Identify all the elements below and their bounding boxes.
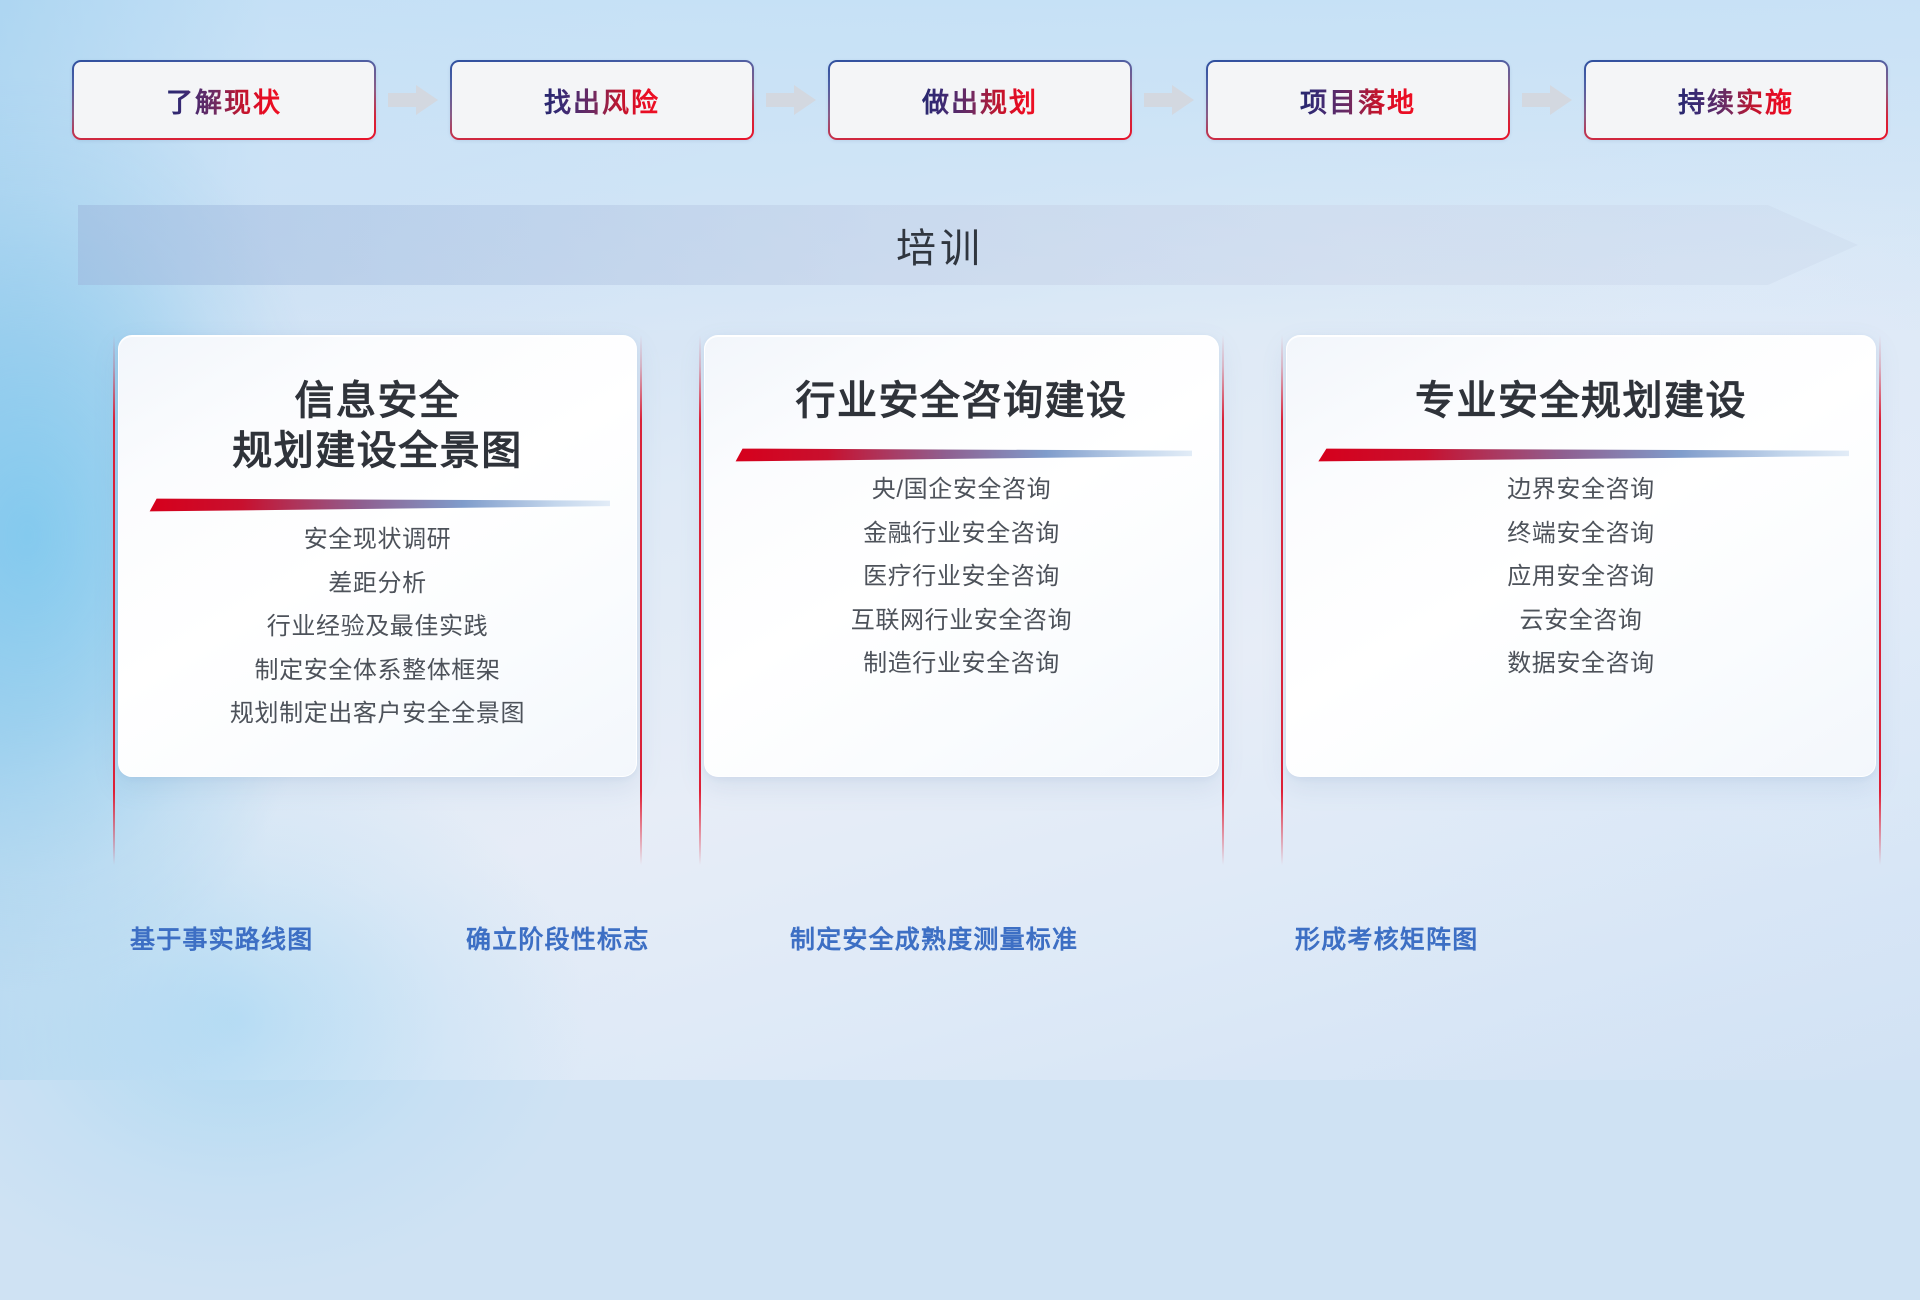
- step-box-4[interactable]: 项目落地: [1206, 60, 1510, 140]
- arrow-right-icon: [1520, 83, 1574, 117]
- card-accent-line-right-3: [1879, 335, 1881, 865]
- card-3[interactable]: 专业安全规划建设边界安全咨询终端安全咨询应用安全咨询云安全咨询数据安全咨询: [1286, 335, 1876, 777]
- card-title-1: 信息安全规划建设全景图: [232, 376, 523, 476]
- training-band-label: 培训: [896, 216, 984, 274]
- card-1[interactable]: 信息安全规划建设全景图安全现状调研差距分析行业经验及最佳实践制定安全体系整体框架…: [118, 335, 637, 777]
- card-list-3: 边界安全咨询终端安全咨询应用安全咨询云安全咨询数据安全咨询: [1313, 476, 1849, 678]
- list-item: 制造行业安全咨询: [863, 650, 1060, 678]
- step-box-5[interactable]: 持续实施: [1584, 60, 1888, 140]
- card-title-line: 专业安全规划建设: [1415, 376, 1747, 426]
- step-label-1: 了解现状: [166, 81, 282, 120]
- list-item: 云安全咨询: [1520, 607, 1643, 635]
- card-wrapper-3: 专业安全规划建设边界安全咨询终端安全咨询应用安全咨询云安全咨询数据安全咨询: [1281, 335, 1881, 865]
- step-box-1[interactable]: 了解现状: [72, 60, 376, 140]
- card-divider-1: [145, 494, 610, 516]
- card-wrapper-1: 信息安全规划建设全景图安全现状调研差距分析行业经验及最佳实践制定安全体系整体框架…: [113, 335, 642, 865]
- card-title-line: 行业安全咨询建设: [796, 376, 1128, 426]
- training-band-label-wrap: 培训: [0, 205, 1880, 285]
- step-arrow-3: [1142, 83, 1196, 117]
- gradient-divider-icon: [1313, 444, 1849, 466]
- step-arrow-4: [1520, 83, 1574, 117]
- list-item: 医疗行业安全咨询: [863, 563, 1060, 591]
- arrow-right-icon: [386, 83, 440, 117]
- card-divider-2: [731, 444, 1192, 466]
- card-2[interactable]: 行业安全咨询建设央/国企安全咨询金融行业安全咨询医疗行业安全咨询互联网行业安全咨…: [704, 335, 1219, 777]
- step-arrow-2: [764, 83, 818, 117]
- list-item: 行业经验及最佳实践: [267, 613, 488, 641]
- step-label-2: 找出风险: [544, 81, 660, 120]
- gradient-divider-icon: [731, 444, 1192, 466]
- list-item: 终端安全咨询: [1507, 520, 1655, 548]
- arrow-right-icon: [764, 83, 818, 117]
- list-item: 安全现状调研: [304, 526, 452, 554]
- card-list-1: 安全现状调研差距分析行业经验及最佳实践制定安全体系整体框架规划制定出客户安全全景…: [145, 526, 610, 728]
- list-item: 数据安全咨询: [1507, 650, 1655, 678]
- list-item: 应用安全咨询: [1507, 563, 1655, 591]
- card-title-3: 专业安全规划建设: [1415, 376, 1747, 426]
- caption-row: 基于事实路线图确立阶段性标志制定安全成熟度测量标准形成考核矩阵图: [0, 920, 1920, 980]
- list-item: 央/国企安全咨询: [872, 476, 1051, 504]
- list-item: 互联网行业安全咨询: [851, 607, 1072, 635]
- step-box-2[interactable]: 找出风险: [450, 60, 754, 140]
- card-wrapper-2: 行业安全咨询建设央/国企安全咨询金融行业安全咨询医疗行业安全咨询互联网行业安全咨…: [699, 335, 1224, 865]
- list-item: 差距分析: [328, 570, 426, 598]
- card-accent-line-left-3: [1281, 335, 1283, 865]
- card-title-line: 信息安全: [232, 376, 523, 426]
- card-accent-line-left-1: [113, 335, 115, 865]
- step-box-3[interactable]: 做出规划: [828, 60, 1132, 140]
- list-item: 制定安全体系整体框架: [255, 657, 501, 685]
- card-divider-3: [1313, 444, 1849, 466]
- list-item: 边界安全咨询: [1507, 476, 1655, 504]
- step-label-4: 项目落地: [1300, 81, 1416, 120]
- process-step-row: 了解现状找出风险做出规划项目落地持续实施: [0, 0, 1920, 200]
- list-item: 金融行业安全咨询: [863, 520, 1060, 548]
- card-row: 信息安全规划建设全景图安全现状调研差距分析行业经验及最佳实践制定安全体系整体框架…: [0, 335, 1920, 865]
- card-accent-line-right-1: [640, 335, 642, 865]
- list-item: 规划制定出客户安全全景图: [230, 700, 525, 728]
- card-title-line: 规划建设全景图: [232, 426, 523, 476]
- step-label-5: 持续实施: [1678, 81, 1794, 120]
- card-accent-line-left-2: [699, 335, 701, 865]
- caption-1: 基于事实路线图: [130, 920, 313, 956]
- caption-3: 制定安全成熟度测量标准: [790, 920, 1078, 956]
- card-title-2: 行业安全咨询建设: [796, 376, 1128, 426]
- gradient-divider-icon: [145, 494, 610, 516]
- step-label-3: 做出规划: [922, 81, 1038, 120]
- caption-4: 形成考核矩阵图: [1295, 920, 1478, 956]
- card-accent-line-right-2: [1222, 335, 1224, 865]
- arrow-right-icon: [1142, 83, 1196, 117]
- step-arrow-1: [386, 83, 440, 117]
- caption-2: 确立阶段性标志: [466, 920, 649, 956]
- card-list-2: 央/国企安全咨询金融行业安全咨询医疗行业安全咨询互联网行业安全咨询制造行业安全咨…: [731, 476, 1192, 678]
